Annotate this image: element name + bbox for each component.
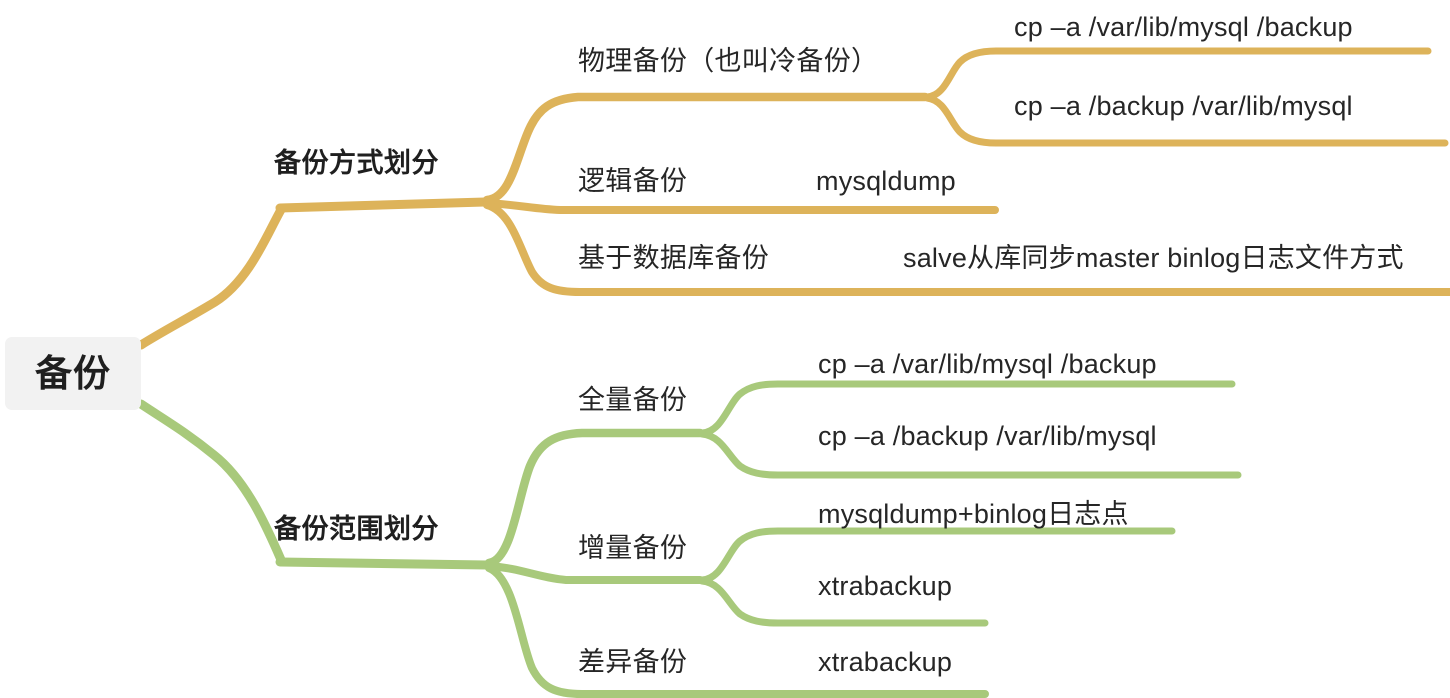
edge-backup-method-underline [280,202,485,208]
leaf-node-mysqldump[interactable]: mysqldump [816,168,956,195]
topic-node-logical-backup-label: 逻辑备份 [578,166,687,196]
leaf-node-incremental-cmd-2-label: xtrabackup [818,571,952,601]
root-node[interactable]: 备份 [5,337,141,410]
mindmap-canvas: 备份 备份方式划分 物理备份（也叫冷备份） cp –a /var/lib/mys… [0,0,1450,698]
leaf-node-physical-cmd-2-label: cp –a /backup /var/lib/mysql [1014,91,1353,121]
topic-node-logical-backup[interactable]: 逻辑备份 [578,168,687,195]
leaf-node-incremental-cmd-2[interactable]: xtrabackup [818,573,952,600]
leaf-node-mysqldump-label: mysqldump [816,166,956,196]
leaf-node-physical-cmd-1[interactable]: cp –a /var/lib/mysql /backup [1014,14,1353,41]
topic-node-full-backup-label: 全量备份 [578,385,687,415]
leaf-node-full-cmd-1-label: cp –a /var/lib/mysql /backup [818,349,1157,379]
edge-root-to-backup-scope [141,404,282,562]
edge-root-to-backup-method [141,208,282,345]
leaf-node-incremental-cmd-1-label: mysqldump+binlog日志点 [818,499,1129,529]
topic-node-physical-backup-label: 物理备份（也叫冷备份） [578,46,878,76]
leaf-node-incremental-cmd-1[interactable]: mysqldump+binlog日志点 [818,501,1129,528]
topic-node-differential-backup-label: 差异备份 [578,647,687,677]
edge-to-incremental-backup [489,566,700,580]
topic-node-differential-backup[interactable]: 差异备份 [578,649,687,676]
leaf-node-physical-cmd-1-label: cp –a /var/lib/mysql /backup [1014,12,1353,42]
edge-backup-scope-underline [280,562,487,565]
branch-node-backup-method[interactable]: 备份方式划分 [274,150,439,177]
leaf-node-full-cmd-2-label: cp –a /backup /var/lib/mysql [818,421,1157,451]
edge-to-logical-backup [487,203,995,210]
leaf-node-differential-cmd-1[interactable]: xtrabackup [818,649,952,676]
leaf-node-full-cmd-1[interactable]: cp –a /var/lib/mysql /backup [818,351,1157,378]
topic-node-db-based-backup-label: 基于数据库备份 [578,243,769,273]
branch-node-backup-method-label: 备份方式划分 [274,148,439,178]
leaf-node-slave-binlog-sync[interactable]: salve从库同步master binlog日志文件方式 [903,245,1404,272]
leaf-node-slave-binlog-sync-label: salve从库同步master binlog日志文件方式 [903,243,1404,273]
topic-node-db-based-backup[interactable]: 基于数据库备份 [578,245,769,272]
branch-node-backup-scope[interactable]: 备份范围划分 [274,516,439,543]
topic-node-incremental-backup-label: 增量备份 [578,533,687,563]
topic-node-physical-backup[interactable]: 物理备份（也叫冷备份） [578,48,878,75]
topic-node-full-backup[interactable]: 全量备份 [578,387,687,414]
leaf-node-physical-cmd-2[interactable]: cp –a /backup /var/lib/mysql [1014,93,1353,120]
topic-node-incremental-backup[interactable]: 增量备份 [578,535,687,562]
root-node-label: 备份 [35,355,111,392]
branch-node-backup-scope-label: 备份范围划分 [274,514,439,544]
leaf-node-differential-cmd-1-label: xtrabackup [818,647,952,677]
leaf-node-full-cmd-2[interactable]: cp –a /backup /var/lib/mysql [818,423,1157,450]
